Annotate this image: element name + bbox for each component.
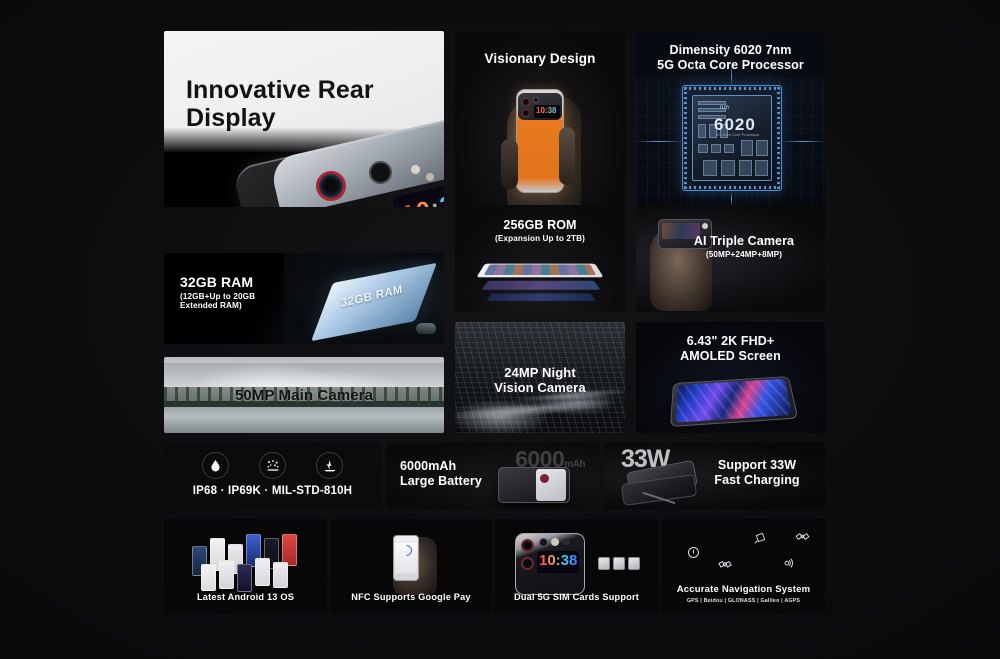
panel-battery: 6000mAh 6000mAh Large Battery (386, 443, 599, 509)
satellite-icon-2 (754, 531, 767, 549)
night-camera-title: 24MP Night Vision Camera (455, 365, 625, 396)
camera-lens-primary (521, 539, 534, 552)
fast-charging-title: Support 33W Fast Charging (697, 458, 817, 488)
sim-caption: Dual 5G SIM Cards Support (495, 592, 658, 602)
sensor-icon (563, 538, 570, 545)
drop-resistance-icon (316, 452, 343, 479)
main-camera-title: 50MP Main Camera (164, 387, 444, 405)
panel-dual-sim: 10:38 Dual 5G SIM Cards Support (495, 519, 658, 613)
panel-main-camera: 50MP Main Camera (164, 357, 444, 433)
panel-night-camera: 24MP Night Vision Camera (455, 322, 625, 433)
ram-title: 32GB RAM (12GB+Up to 20GB Extended RAM) (180, 274, 330, 311)
satellite-signal-icon (780, 555, 795, 575)
media-thumbnails-grid (484, 265, 596, 275)
panel-nfc: NFC Supports Google Pay (331, 519, 491, 613)
camera-lens-secondary (522, 109, 530, 117)
panel-ai-camera: AI Triple Camera (50MP+24MP+8MP) (636, 205, 825, 312)
fast-charging-title-line2: Fast Charging (714, 473, 799, 487)
chip-model-label: 6020 (714, 115, 756, 135)
ai-camera-sub: (50MP+24MP+8MP) (669, 250, 819, 260)
android-caption: Latest Android 13 OS (164, 592, 327, 602)
panel-fast-charging: 33W Support 33W Fast Charging (604, 443, 825, 509)
ram-sub-line2: Extended RAM) (180, 301, 330, 311)
storage-layer-2 (482, 281, 601, 290)
camera-lens-secondary (521, 557, 534, 570)
panel-navigation: Accurate Navigation System GPS | Beidou … (662, 519, 825, 613)
battery-title: 6000mAh Large Battery (400, 459, 510, 489)
chip-die (692, 95, 772, 181)
ram-title-text: 32GB RAM (180, 274, 253, 290)
chip-model-sub: 5G Octa Core Processor (716, 133, 760, 137)
nfc-caption: NFC Supports Google Pay (331, 592, 491, 602)
panel-rom: 256GB ROM (Expansion Up to 2TB) (455, 205, 625, 312)
flash-icon (551, 538, 559, 546)
amoled-title: 6.43" 2K FHD+ AMOLED Screen (636, 334, 825, 364)
camera-lens-tertiary (533, 97, 539, 103)
panel-processor: nm 6020 5G Octa Core Processor Dimensity… (636, 31, 825, 207)
compass-icon (686, 545, 701, 565)
night-camera-title-line1: 24MP Night (504, 365, 576, 380)
thumb-illustration (501, 139, 518, 189)
ram-sub-line1: (12GB+Up to 20GB (180, 292, 330, 302)
android-screens-collage (192, 534, 300, 592)
navigation-caption: Accurate Navigation System (662, 584, 825, 595)
satellite-icon-1 (717, 557, 733, 578)
amoled-title-line2: AMOLED Screen (680, 349, 781, 363)
navigation-subcaption: GPS | Beidou | GLONASS | Galileo | AGPS (662, 598, 825, 604)
panel-durability: IP68 · IP69K · MIL-STD-810H (164, 443, 381, 509)
storage-layer-3 (486, 293, 595, 300)
amoled-title-line1: 6.43" 2K FHD+ (687, 334, 774, 348)
night-camera-title-line2: Vision Camera (494, 380, 585, 395)
camera-lens-primary (522, 98, 530, 106)
amoled-screen-illustration (675, 379, 792, 423)
dust-proof-icon (259, 452, 286, 479)
lake-illustration (164, 407, 444, 433)
processor-title-line1: Dimensity 6020 7nm (670, 43, 792, 57)
mini-display-clock: 10:38 (536, 106, 556, 115)
panel-innovative-rear-display: 10:38 Tuesday Wifi Innovative Rear Displ… (164, 31, 444, 207)
panel-android-os: Latest Android 13 OS (164, 519, 327, 613)
ai-camera-title-text: AI Triple Camera (694, 234, 794, 248)
rear-display-screen: 10:38 (537, 551, 579, 573)
sim-phone-clock: 10:38 (539, 552, 577, 569)
camera-lens-tertiary (539, 538, 548, 547)
rom-title: 256GB ROM (Expansion Up to 2TB) (455, 218, 625, 243)
finger-illustration (559, 127, 575, 185)
trace-line-right (781, 141, 825, 142)
rear-display-title: Innovative Rear Display (186, 76, 416, 132)
battery-title-line1: 6000mAh (400, 459, 456, 473)
rear-mini-display: 10:38 (534, 105, 560, 118)
chip-brand-mark: nm (720, 105, 729, 111)
visionary-design-title: Visionary Design (455, 51, 625, 67)
processor-title-line2: 5G Octa Core Processor (657, 58, 804, 72)
ai-camera-title: AI Triple Camera (50MP+24MP+8MP) (669, 234, 819, 259)
rom-sub: (Expansion Up to 2TB) (455, 234, 625, 244)
sim-card-icons (598, 557, 640, 570)
durability-icon-row (164, 452, 381, 479)
flash-icon (702, 223, 708, 229)
water-drop-icon (202, 452, 229, 479)
phone-screen (536, 469, 566, 501)
panel-ram: 32GB RAM 32GB RAM (12GB+Up to 20GB Exten… (164, 253, 444, 344)
rom-title-text: 256GB ROM (503, 218, 576, 232)
trace-line-left (636, 141, 682, 142)
fast-charging-title-line1: Support 33W (718, 458, 796, 472)
battery-title-line2: Large Battery (400, 474, 482, 488)
processor-title: Dimensity 6020 7nm 5G Octa Core Processo… (636, 43, 825, 73)
durability-title: IP68 · IP69K · MIL-STD-810H (164, 485, 381, 499)
panel-visionary-design: 10:38 Visionary Design (455, 31, 625, 207)
feature-spec-sheet: 10:38 Tuesday Wifi Innovative Rear Displ… (0, 0, 1000, 659)
panel-amoled-screen: 6.43" 2K FHD+ AMOLED Screen (636, 322, 825, 433)
satellite-icon-3 (795, 529, 810, 549)
